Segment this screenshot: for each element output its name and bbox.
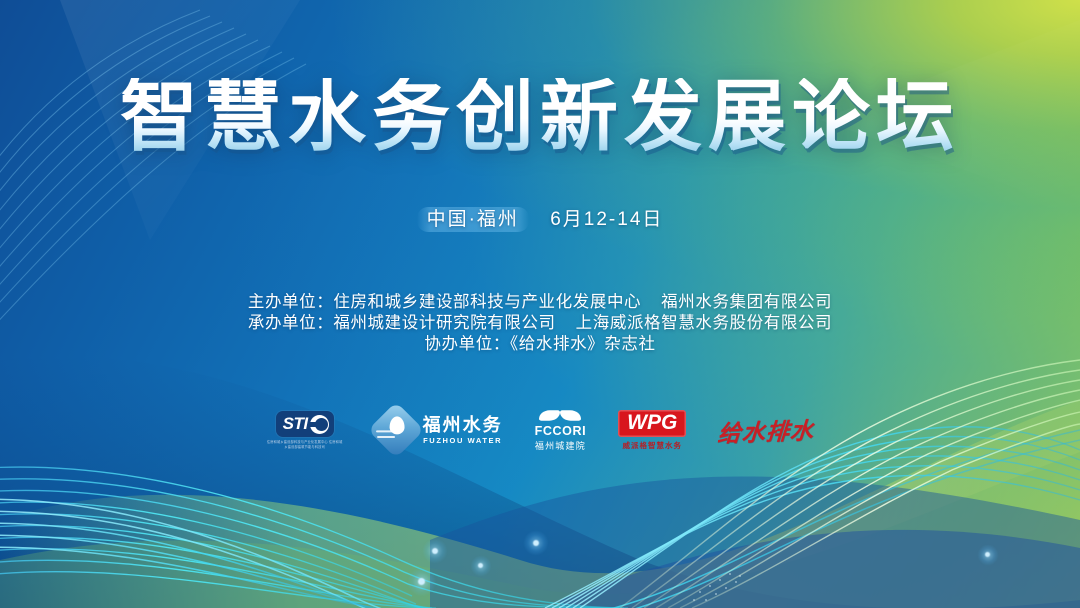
subtitle: 中国·福州 6月12-14日 xyxy=(417,204,664,231)
organizer-entry: 住房和城乡建设部科技与产业化发展中心 xyxy=(333,293,641,311)
fuzhou-water-en: FUZHOU WATER xyxy=(423,436,502,445)
organizer-entry: 福州水务集团有限公司 xyxy=(661,293,832,311)
glow-dot xyxy=(418,578,425,585)
organizer-line-undertaker: 承办单位：福州城建设计研究院有限公司上海威派格智慧水务股份有限公司 xyxy=(0,313,1080,334)
stid-d-icon xyxy=(310,415,329,434)
wpg-logo-box: WPG xyxy=(618,410,686,437)
jishuipaishui-cn: 给水排水 xyxy=(717,411,816,448)
subtitle-location: 中国·福州 xyxy=(417,207,529,232)
organizer-block: 主办单位：住房和城乡建设部科技与产业化发展中心福州水务集团有限公司 承办单位：福… xyxy=(0,292,1080,355)
organizer-entry: 《给水排水》杂志社 xyxy=(510,335,656,353)
fuzhou-water-cn: 福州水务 xyxy=(423,416,503,435)
organizer-label: 协办单位： xyxy=(424,335,510,353)
organizer-line-coorganizer: 协办单位：《给水排水》杂志社 xyxy=(0,334,1080,355)
leaf-right xyxy=(560,410,581,420)
fccori-leaf-icon xyxy=(539,408,581,423)
glow-dot xyxy=(985,552,990,557)
fuzhou-water-wordmark: 福州水务 FUZHOU WATER xyxy=(423,416,503,445)
glow-dot xyxy=(533,540,539,546)
glow-dot xyxy=(478,563,483,568)
wave-line xyxy=(376,430,396,432)
glow-dot xyxy=(432,548,438,554)
subtitle-row: 中国·福州 6月12-14日 xyxy=(0,204,1080,231)
sponsor-logo-row: STI 住房和城乡建设部科技与产业化发展中心 住房和城乡建设部建筑节能与科技司 … xyxy=(0,398,1080,462)
stid-logo-caption: 住房和城乡建设部科技与产业化发展中心 住房和城乡建设部建筑节能与科技司 xyxy=(266,440,344,449)
fccori-logo: FCCORI 福州城建院 xyxy=(535,400,587,460)
organizer-label: 主办单位： xyxy=(248,293,334,311)
fccori-cn: 福州城建院 xyxy=(535,439,586,452)
water-drop-icon xyxy=(367,402,424,459)
wpg-cn: 威派格智慧水务 xyxy=(623,440,683,451)
stid-logo-text: STI xyxy=(283,414,308,434)
organizer-entry: 上海威派格智慧水务股份有限公司 xyxy=(576,314,833,332)
subtitle-date: 6月12-14日 xyxy=(550,209,663,230)
organizer-entry: 福州城建设计研究院有限公司 xyxy=(333,314,555,332)
jishuipaishui-logo: 给水排水 xyxy=(718,400,814,460)
fuzhou-water-logo: 福州水务 FUZHOU WATER xyxy=(376,400,503,460)
wave-line xyxy=(377,436,395,438)
stid-logo-mark: STI xyxy=(276,411,334,437)
wpg-en: WPG xyxy=(627,412,677,434)
poster-title: 智慧水务创新发展论坛 xyxy=(0,78,1080,156)
organizer-line-host: 主办单位：住房和城乡建设部科技与产业化发展中心福州水务集团有限公司 xyxy=(0,292,1080,313)
organizer-label: 承办单位： xyxy=(248,314,334,332)
wpg-logo: WPG 威派格智慧水务 xyxy=(618,400,686,460)
stid-logo: STI 住房和城乡建设部科技与产业化发展中心 住房和城乡建设部建筑节能与科技司 xyxy=(266,400,344,460)
leaf-left xyxy=(539,410,560,420)
fccori-en: FCCORI xyxy=(535,424,587,438)
poster-canvas: 智慧水务创新发展论坛 中国·福州 6月12-14日 主办单位：住房和城乡建设部科… xyxy=(0,0,1080,608)
